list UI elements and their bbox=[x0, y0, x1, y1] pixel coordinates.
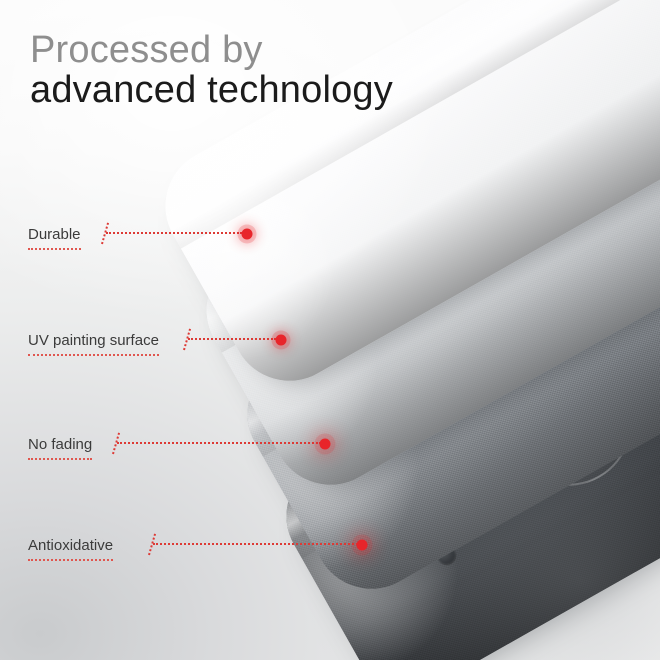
callout-leader-durable bbox=[106, 232, 242, 234]
callout-leader-uv bbox=[188, 338, 276, 340]
callout-marker-uv[interactable] bbox=[276, 335, 287, 346]
title-line-2: advanced technology bbox=[30, 70, 393, 110]
callout-uv-painting-surface[interactable]: UV painting surface bbox=[28, 332, 159, 350]
callout-marker-no-fading[interactable] bbox=[320, 439, 331, 450]
callout-durable[interactable]: Durable bbox=[28, 226, 81, 244]
callout-marker-durable[interactable] bbox=[242, 229, 253, 240]
callout-leader-antioxidative bbox=[153, 543, 358, 545]
callout-label: UV painting surface bbox=[28, 332, 159, 356]
callout-marker-antioxidative[interactable] bbox=[357, 540, 368, 551]
callout-no-fading[interactable]: No fading bbox=[28, 436, 92, 454]
callout-label: Durable bbox=[28, 226, 81, 250]
callout-antioxidative[interactable]: Antioxidative bbox=[28, 537, 113, 555]
callout-label: Antioxidative bbox=[28, 537, 113, 561]
product-infographic: Processed by advanced technology Durable… bbox=[0, 0, 660, 660]
callout-leader-no-fading bbox=[117, 442, 321, 444]
callout-label: No fading bbox=[28, 436, 92, 460]
page-title: Processed by advanced technology bbox=[30, 30, 393, 111]
title-line-1: Processed by bbox=[30, 30, 393, 70]
